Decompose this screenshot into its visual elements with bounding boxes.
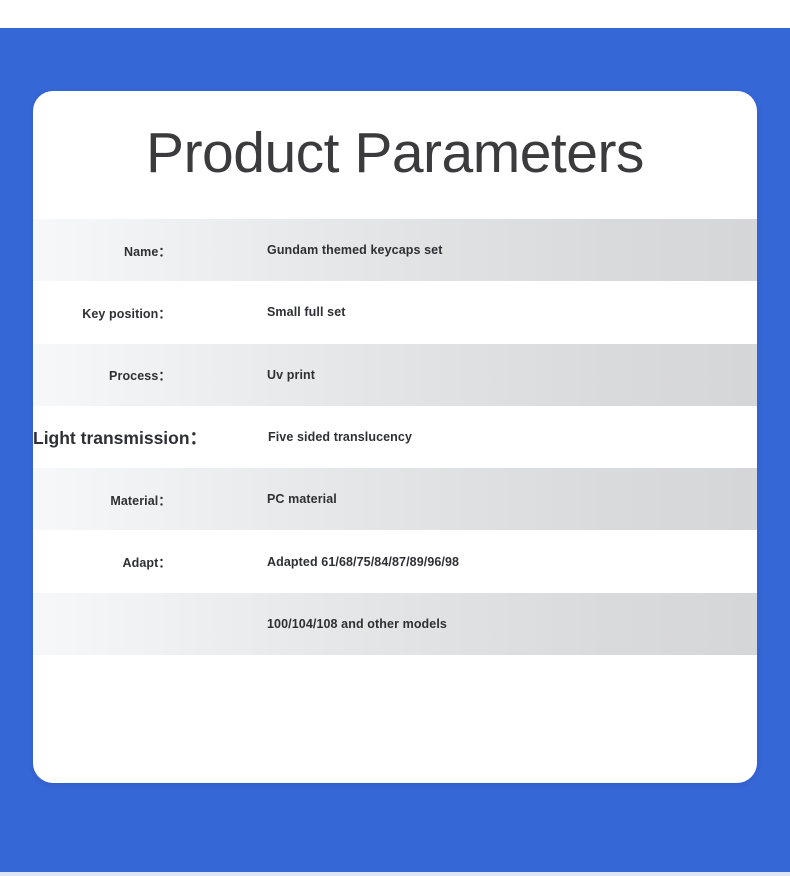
parameters-card: Product Parameters Name：Gundam themed ke… [33, 91, 757, 783]
parameter-value: Uv print [171, 368, 757, 382]
parameter-label: Light transmission： [33, 425, 171, 450]
parameter-value: Five sided translucency [171, 430, 757, 444]
table-row: Light transmission：Five sided translucen… [33, 406, 757, 468]
product-parameters-page: Product Parameters Name：Gundam themed ke… [0, 0, 790, 876]
parameter-label: Process： [33, 365, 171, 384]
table-row: Key position：Small full set [33, 281, 757, 343]
table-row: Adapt：Adapted 61/68/75/84/87/89/96/98 [33, 530, 757, 592]
table-row: Name：Gundam themed keycaps set [33, 219, 757, 281]
table-row: Material：PC material [33, 468, 757, 530]
parameter-label: Adapt： [33, 552, 171, 571]
parameter-value: Adapted 61/68/75/84/87/89/96/98 [171, 555, 757, 569]
page-title: Product Parameters [33, 91, 757, 182]
table-row: 100/104/108 and other models [33, 593, 757, 655]
bottom-accent-strip [0, 872, 790, 876]
parameter-value: Small full set [171, 305, 757, 319]
parameter-label: Name： [33, 241, 171, 260]
parameter-value: PC material [171, 492, 757, 506]
parameter-label: Key position： [33, 303, 171, 322]
parameters-table: Name：Gundam themed keycaps setKey positi… [33, 219, 757, 655]
parameter-label: Material： [33, 490, 171, 509]
parameter-value: 100/104/108 and other models [171, 617, 757, 631]
table-row: Process：Uv print [33, 344, 757, 406]
parameter-value: Gundam themed keycaps set [171, 243, 757, 257]
